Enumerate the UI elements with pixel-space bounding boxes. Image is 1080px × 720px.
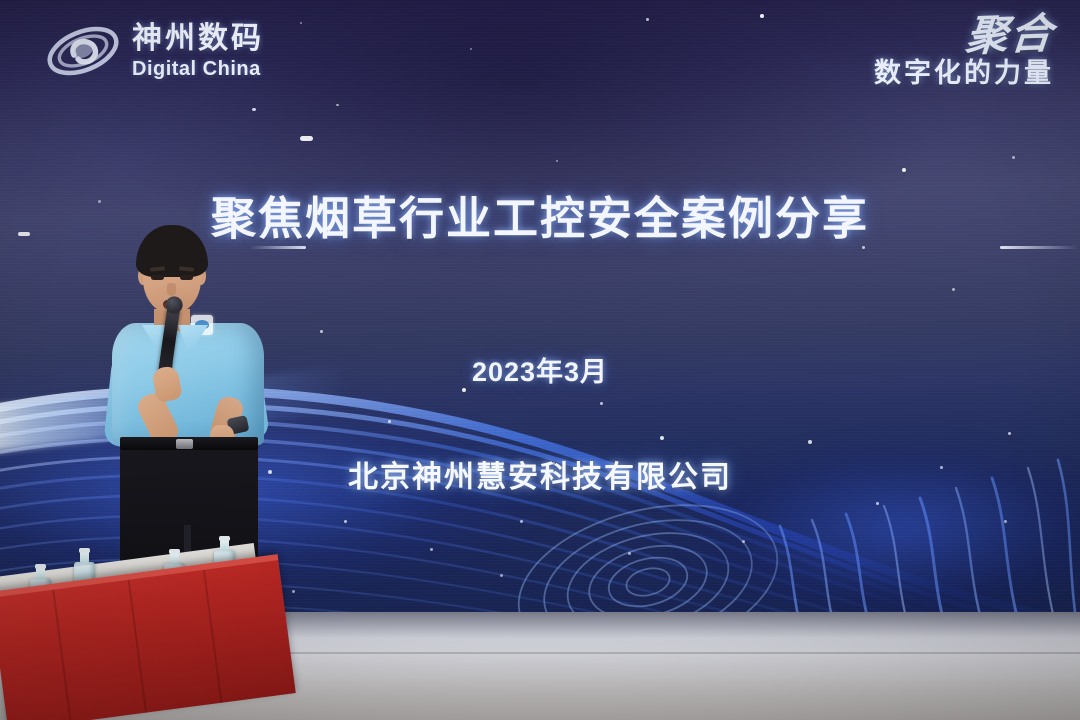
speaker-eye-left (151, 275, 164, 280)
conference-stage-photo: 神州数码 Digital China 聚合 数字化的力量 聚焦烟草行业工控安全案… (0, 0, 1080, 720)
brand-name-cn: 神州数码 (132, 24, 264, 54)
event-brand-lockup: 聚合 数字化的力量 (874, 14, 1054, 87)
digital-china-swirl-logo (44, 20, 122, 82)
event-calligraphy: 聚合 (964, 12, 1056, 57)
speaker-nose (167, 283, 176, 296)
speaker-belt-buckle (176, 439, 193, 449)
speaker-hair (136, 225, 208, 277)
speaker-eye-right (180, 275, 193, 280)
event-tagline: 数字化的力量 (874, 60, 1054, 87)
table-cloth-fold (128, 580, 147, 713)
table-cloth-fold (203, 570, 222, 703)
brand-name-en: Digital China (132, 59, 264, 79)
table-cloth-fold (52, 590, 71, 720)
digital-china-brand-lockup: 神州数码 Digital China (44, 20, 264, 82)
